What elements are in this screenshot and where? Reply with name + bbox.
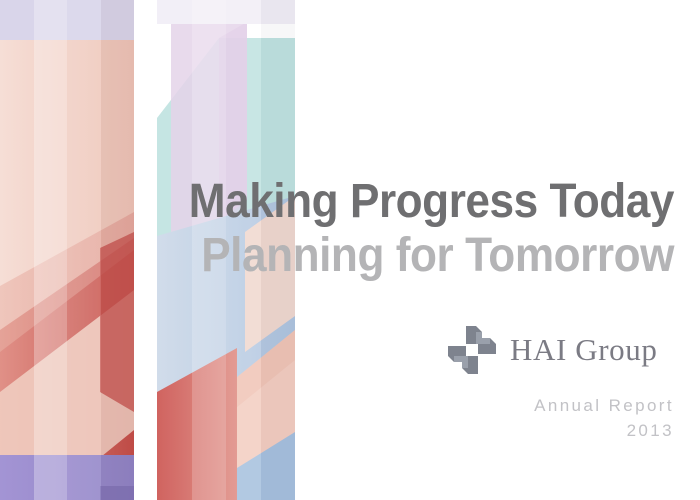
hai-pinwheel-icon — [446, 324, 498, 376]
annual-report-cover: Making Progress Today Planning for Tomor… — [0, 0, 700, 500]
headline-line-2: Planning for Tomorrow — [54, 232, 674, 280]
caption-line-year: 2013 — [380, 419, 674, 444]
logo-wordmark: HAI Group — [510, 332, 657, 368]
hai-group-logo: HAI Group — [446, 322, 674, 378]
cover-headline: Making Progress Today Planning for Tomor… — [0, 178, 674, 280]
caption-line-annual-report: Annual Report — [380, 394, 674, 419]
report-caption: Annual Report 2013 — [380, 394, 674, 443]
headline-line-1: Making Progress Today — [54, 178, 674, 226]
